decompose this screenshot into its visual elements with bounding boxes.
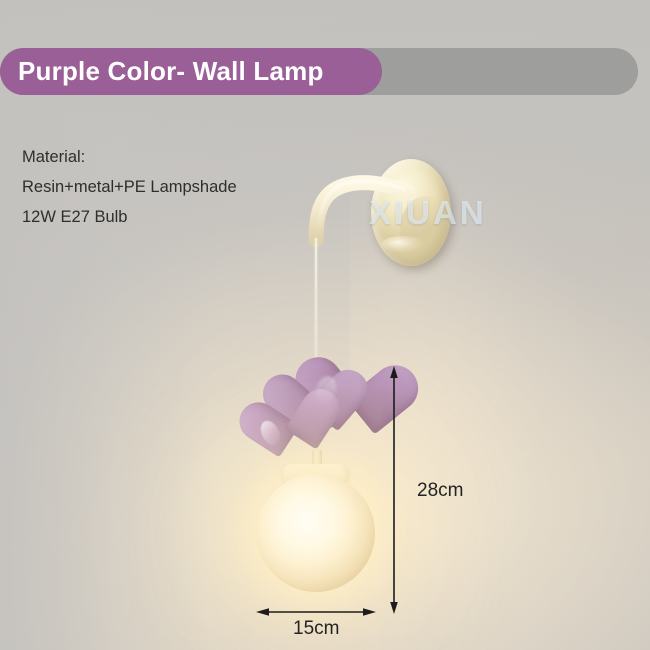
product-image: Purple Color- Wall Lamp Material: Resin+…: [0, 0, 650, 650]
page-title: Purple Color- Wall Lamp: [0, 56, 324, 87]
height-dimension-arrow: [384, 366, 404, 614]
title-badge: Purple Color- Wall Lamp: [0, 48, 382, 95]
spec-bulb: 12W E27 Bulb: [22, 202, 322, 232]
glass-globe-shade: [257, 474, 375, 592]
spec-materials: Resin+metal+PE Lampshade: [22, 172, 322, 202]
brand-watermark: XIUAN: [369, 194, 487, 232]
width-dimension-label: 15cm: [293, 618, 339, 640]
specification-block: Material: Resin+metal+PE Lampshade 12W E…: [22, 142, 322, 232]
spec-heading: Material:: [22, 142, 322, 172]
height-dimension-label: 28cm: [417, 480, 463, 502]
